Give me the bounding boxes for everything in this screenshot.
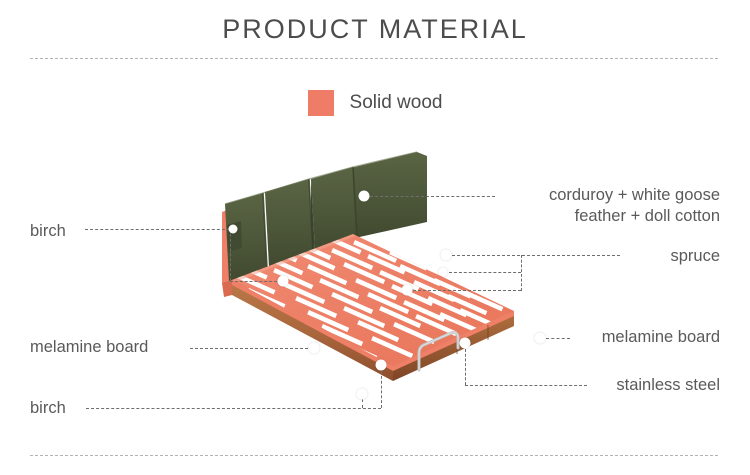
leader-corduroy [370, 196, 495, 197]
infographic-canvas: PRODUCT MATERIAL Solid wood [0, 0, 750, 475]
hotspot-spruce-3[interactable] [402, 285, 413, 296]
leader-spruce-b [449, 272, 521, 273]
divider-bottom [30, 455, 718, 456]
hotspot-stainless-steel[interactable] [460, 338, 471, 349]
divider-top [30, 58, 718, 59]
leader-birch-bottom-v1 [381, 371, 382, 408]
leader-melamine-left [190, 348, 308, 349]
callout-label-birch-top: birch [30, 221, 66, 242]
leader-spruce-c [413, 290, 521, 291]
page-title: PRODUCT MATERIAL [0, 14, 750, 45]
leader-birch-top-v [230, 229, 231, 281]
hotspot-corduroy[interactable] [359, 191, 370, 202]
leader-steel-h [465, 385, 587, 386]
callout-label-birch-bottom: birch [30, 398, 66, 419]
hotspot-melamine-right[interactable] [535, 333, 546, 344]
hotspot-spruce-1[interactable] [441, 250, 452, 261]
callout-label-melamine-left: melamine board [30, 337, 148, 358]
callout-label-spruce: spruce [670, 246, 720, 267]
leader-birch-bottom-h [86, 408, 381, 409]
leader-melamine-right [546, 338, 570, 339]
hotspot-melamine-left[interactable] [309, 343, 320, 354]
color-swatch-icon [308, 90, 334, 116]
callout-label-corduroy: corduroy + white goose feather + doll co… [549, 185, 720, 227]
leader-spruce-join [521, 255, 522, 291]
leader-spruce-a [452, 255, 620, 256]
cushion [225, 193, 267, 281]
legend: Solid wood [0, 90, 750, 116]
leader-steel-v [465, 349, 466, 385]
hotspot-birch-bottom-1[interactable] [376, 360, 387, 371]
hotspot-spruce-2[interactable] [439, 268, 448, 277]
leader-birch-top-h2 [230, 281, 277, 282]
hotspot-birch-top-1[interactable] [229, 225, 238, 234]
hotspot-birch-bottom-2[interactable] [357, 389, 368, 400]
legend-label: Solid wood [350, 92, 443, 114]
callout-label-melamine-right: melamine board [602, 327, 720, 348]
leader-birch-top-h [85, 229, 230, 230]
product-illustration [205, 150, 550, 415]
callout-label-stainless-steel: stainless steel [616, 375, 720, 396]
hotspot-birch-top-2[interactable] [278, 276, 289, 287]
leader-birch-bottom-v2 [362, 399, 363, 408]
